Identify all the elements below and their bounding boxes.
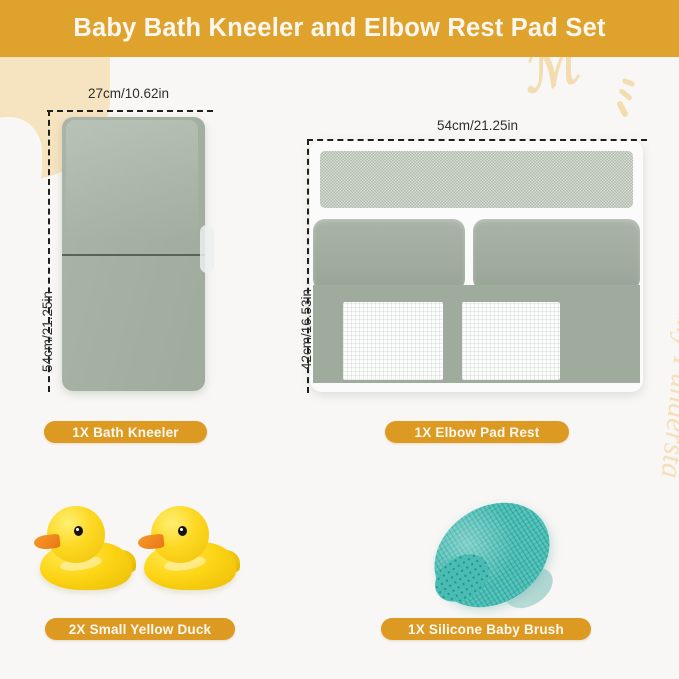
elbowpad-width-guide: [307, 139, 647, 141]
brush-bristle-pad: [415, 482, 570, 629]
decorative-script-watermark: Only I understa: [653, 289, 679, 480]
elbowpad-cushion-left: [313, 219, 465, 291]
kneeler-side-tab: [200, 225, 214, 273]
caption-silicone-baby-brush: 1X Silicone Baby Brush: [381, 618, 591, 640]
kneeler-height-dimension-label: 54cm/21.25in: [40, 291, 55, 372]
kneeler-width-guide: [47, 110, 213, 112]
product-image-elbow-pad-rest: [310, 140, 643, 392]
product-image-bath-kneeler: [62, 117, 205, 391]
product-image-silicone-baby-brush: [425, 505, 561, 609]
header-banner: Baby Bath Kneeler and Elbow Rest Pad Set: [0, 0, 679, 57]
page-title: Baby Bath Kneeler and Elbow Rest Pad Set: [73, 14, 605, 43]
caption-silicone-baby-brush-label: 1X Silicone Baby Brush: [408, 622, 564, 637]
caption-bath-kneeler: 1X Bath Kneeler: [44, 421, 207, 443]
kneeler-highlight: [66, 120, 198, 241]
product-image-yellow-duck-1: [38, 504, 134, 594]
product-image-yellow-duck-2: [142, 504, 238, 594]
elbowpad-mesh-panel: [320, 151, 633, 208]
caption-small-yellow-duck: 2X Small Yellow Duck: [45, 618, 235, 640]
caption-small-yellow-duck-label: 2X Small Yellow Duck: [69, 622, 212, 637]
elbowpad-cushion-right: [473, 219, 640, 291]
caption-bath-kneeler-label: 1X Bath Kneeler: [72, 425, 179, 440]
duck-eye: [178, 526, 187, 536]
duck-beak: [137, 534, 164, 551]
product-infographic: ℳ Only I understa Baby Bath Kneeler and …: [0, 0, 679, 679]
elbowpad-pocket-right: [462, 302, 560, 380]
elbowpad-height-dimension-label: 42cm/16.53in: [299, 289, 314, 370]
kneeler-fold-line: [62, 254, 205, 256]
caption-elbow-pad-rest-label: 1X Elbow Pad Rest: [415, 425, 540, 440]
elbowpad-pocket-left: [343, 302, 443, 380]
kneeler-width-dimension-label: 27cm/10.62in: [88, 86, 169, 101]
duck-beak: [33, 534, 60, 551]
caption-elbow-pad-rest: 1X Elbow Pad Rest: [385, 421, 569, 443]
elbowpad-width-dimension-label: 54cm/21.25in: [437, 118, 518, 133]
duck-eye: [74, 526, 83, 536]
decorative-tick-marks: [614, 78, 654, 123]
